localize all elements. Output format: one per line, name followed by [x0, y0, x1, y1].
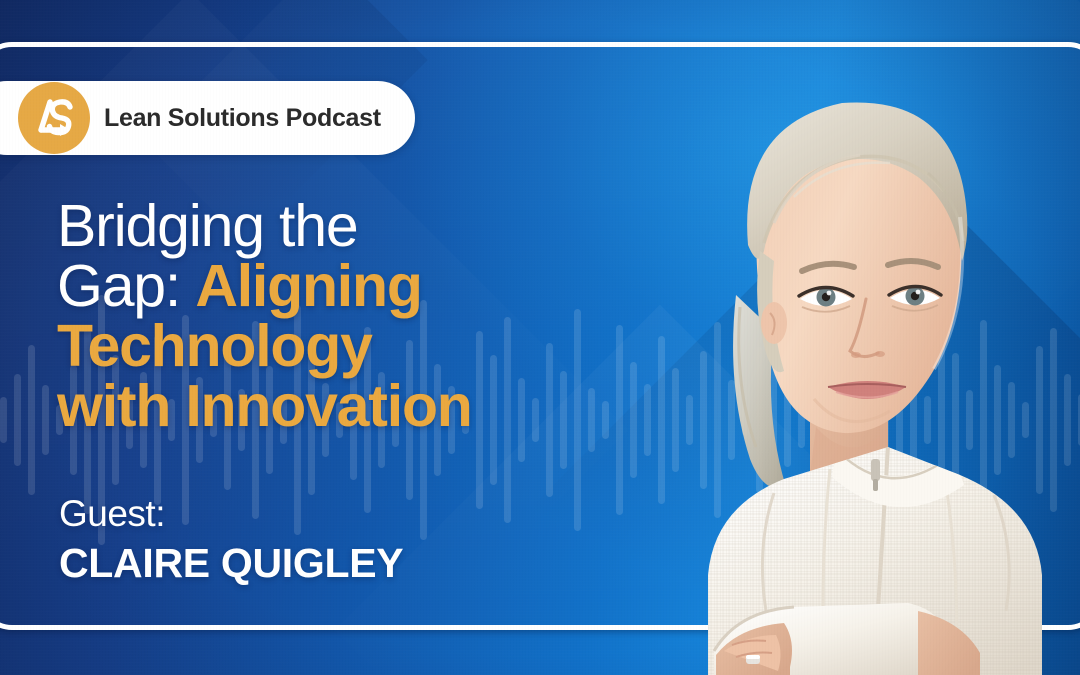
guest-label: Guest:	[59, 492, 403, 536]
title-line-1: Bridging the	[57, 196, 617, 256]
episode-title: Bridging the Gap: Aligning Technology wi…	[57, 196, 617, 436]
guest-portrait	[588, 55, 1080, 675]
title-line-2-accent: Aligning	[195, 253, 421, 319]
brand-badge: Lean Solutions Podcast	[0, 81, 415, 155]
title-line-4-accent: with Innovation	[57, 373, 472, 439]
title-line-3: Technology	[57, 316, 617, 376]
title-line-3-accent: Technology	[57, 313, 372, 379]
title-line-1-text: Bridging the	[57, 193, 357, 259]
podcast-cover-graphic: Lean Solutions Podcast Bridging the Gap:…	[0, 0, 1080, 675]
guest-name: CLAIRE QUIGLEY	[59, 538, 403, 588]
brand-badge-label: Lean Solutions Podcast	[104, 104, 381, 133]
ls-arrow-monogram-icon	[18, 82, 90, 154]
title-line-2-white: Gap:	[57, 253, 180, 319]
title-line-2: Gap: Aligning	[57, 256, 617, 316]
guest-block: Guest: CLAIRE QUIGLEY	[59, 492, 403, 588]
title-line-4: with Innovation	[57, 376, 617, 436]
